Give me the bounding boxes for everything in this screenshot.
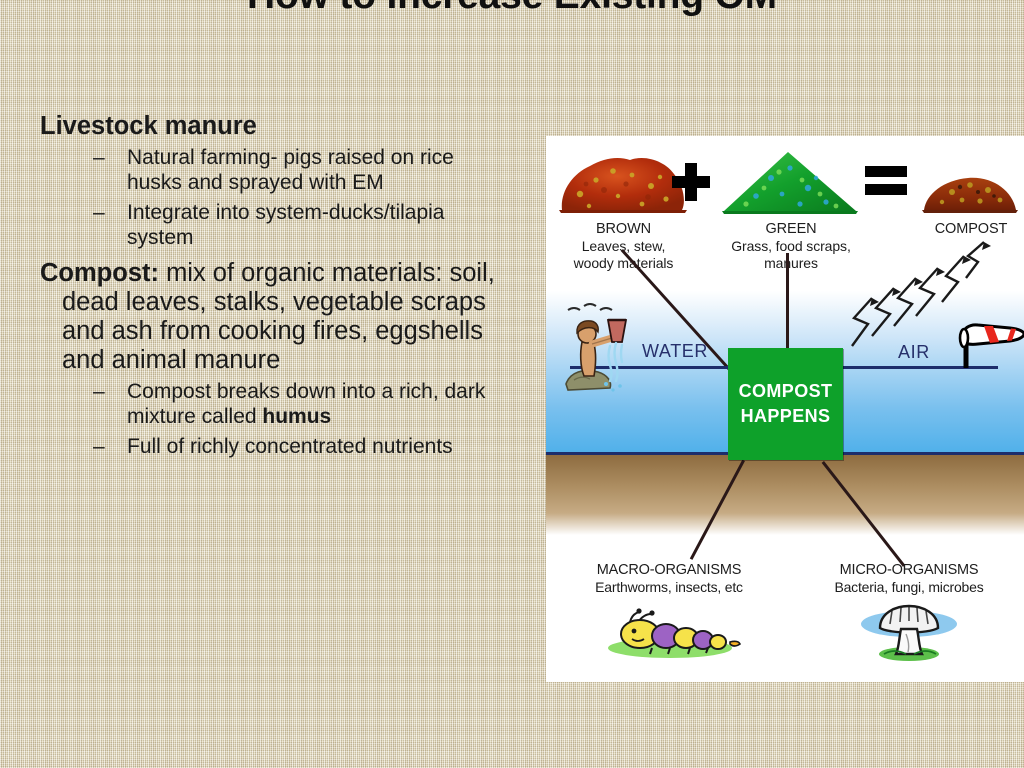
page-title: How to Increase Existing OM bbox=[0, 0, 1024, 18]
bullet-text: Natural farming- pigs raised on rice hus… bbox=[127, 146, 454, 194]
ingredient-label: GREEN bbox=[716, 221, 866, 238]
bullet-livestock-manure: Livestock manure bbox=[40, 112, 510, 141]
ground-fade bbox=[546, 513, 1024, 535]
ingredient-sublabel: Grass, food scraps,manures bbox=[716, 238, 866, 271]
organism-title: MICRO-ORGANISMS bbox=[794, 561, 1024, 579]
mushroom-icon bbox=[854, 604, 964, 662]
organism-macro: MACRO-ORGANISMS Earthworms, insects, etc bbox=[554, 561, 784, 665]
bullet-dash-icon: – bbox=[93, 435, 105, 460]
compost-box-line1: COMPOST bbox=[739, 379, 833, 404]
bullet-compost-definition: Compost: mix of organic materials: soil,… bbox=[40, 259, 510, 375]
organism-sublabel: Bacteria, fungi, microbes bbox=[794, 579, 1024, 596]
equals-sign-icon bbox=[864, 164, 908, 198]
bullet-compost-breaks-down: – Compost breaks down into a rich, dark … bbox=[40, 380, 510, 429]
green-pile-icon bbox=[716, 144, 866, 216]
ingredient-label: BROWN bbox=[556, 221, 691, 238]
water-label: WATER bbox=[642, 341, 708, 362]
ground-band bbox=[546, 455, 1024, 513]
ingredient-green: GREEN Grass, food scraps,manures bbox=[716, 144, 866, 271]
compost-pile-icon bbox=[918, 154, 1024, 216]
ingredient-label: COMPOST bbox=[918, 221, 1024, 238]
bullet-text: Livestock manure bbox=[40, 112, 257, 140]
bullet-full-of-nutrients: – Full of richly concentrated nutrients bbox=[40, 435, 510, 460]
bullet-natural-farming: – Natural farming- pigs raised on rice h… bbox=[40, 146, 510, 195]
compost-happens-diagram: BROWN Leaves, stew,woody materials bbox=[546, 136, 1024, 682]
ingredient-compost: COMPOST bbox=[918, 154, 1024, 238]
caterpillar-icon bbox=[594, 608, 744, 660]
bullet-text: Full of richly concentrated nutrients bbox=[127, 435, 453, 458]
heat-arrows-icon bbox=[846, 240, 996, 352]
organism-micro: MICRO-ORGANISMS Bacteria, fungi, microbe… bbox=[794, 561, 1024, 667]
bullet-dash-icon: – bbox=[93, 201, 105, 226]
connector-green bbox=[786, 253, 789, 349]
bullet-integrate-system: – Integrate into system-ducks/tilapia sy… bbox=[40, 201, 510, 250]
organism-title: MACRO-ORGANISMS bbox=[554, 561, 784, 579]
bullet-text: Integrate into system-ducks/tilapia syst… bbox=[127, 201, 444, 249]
slide-body-text: Livestock manure – Natural farming- pigs… bbox=[40, 112, 510, 462]
person-pouring-water-icon bbox=[560, 296, 632, 400]
compost-box-line2: HAPPENS bbox=[741, 404, 831, 429]
bullet-dash-icon: – bbox=[93, 146, 105, 171]
bullet-emphasis-humus: humus bbox=[262, 405, 331, 428]
plus-sign-icon bbox=[670, 161, 712, 203]
organism-sublabel: Earthworms, insects, etc bbox=[554, 579, 784, 596]
bullet-lead-label: Compost: bbox=[40, 259, 159, 287]
bullet-dash-icon: – bbox=[93, 380, 105, 405]
compost-happens-box: COMPOST HAPPENS bbox=[728, 348, 843, 460]
